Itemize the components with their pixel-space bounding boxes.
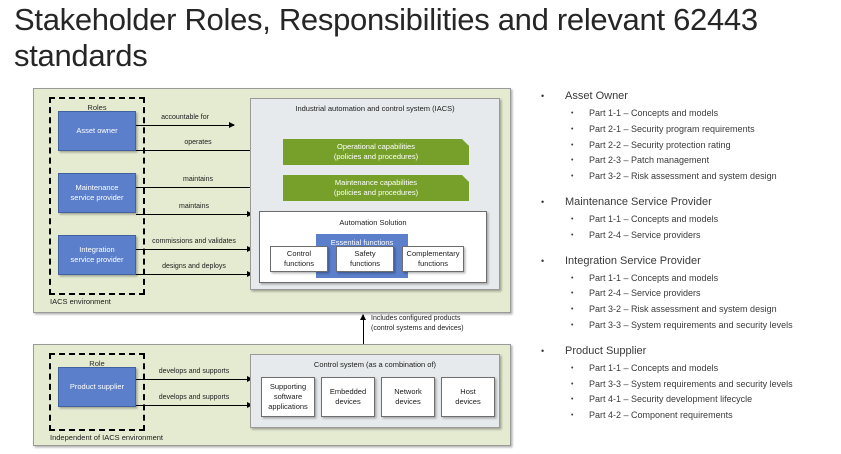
supporting-software-applications-line3: applications: [268, 402, 308, 412]
control-functions-line1: Control: [287, 249, 311, 259]
arrow-develops-and-supports-1: [136, 379, 252, 380]
independent-environment-label: Independent of IACS environment: [50, 433, 163, 442]
control-system-title: Control system (as a combination of): [251, 360, 499, 369]
arrow-develops-and-supports-2: [136, 405, 252, 406]
arrow-develops-and-supports-1-label: develops and supports: [134, 368, 254, 375]
arrow-accountable-for-label: accountable for: [136, 114, 234, 121]
network-devices-line1: Network: [394, 387, 422, 397]
independent-environment-panel: Role Product supplier Independent of IAC…: [33, 344, 511, 446]
stakeholder-standards-list: Asset OwnerPart 1-1 – Concepts and model…: [537, 86, 837, 431]
safety-functions-line2: functions: [350, 259, 380, 269]
complementary-functions-box[interactable]: Complementary functions: [402, 246, 464, 272]
iacs-environment-label: IACS environment: [50, 297, 111, 306]
control-system-panel: Control system (as a combination of) Sup…: [250, 354, 500, 428]
stakeholder-diagram: Roles Asset owner Maintenance service pr…: [33, 88, 511, 446]
connector-label: Includes configured products (control sy…: [371, 314, 464, 333]
safety-functions-line1: Safety: [354, 249, 375, 259]
arrow-designs-and-deploys-label: designs and deploys: [134, 263, 254, 270]
stakeholder-group: Asset OwnerPart 1-1 – Concepts and model…: [537, 86, 837, 185]
standard-item: Part 2-3 – Patch management: [537, 153, 837, 169]
role-integration-service-provider-label: Integration service provider: [71, 245, 124, 265]
role-product-supplier[interactable]: Product supplier: [58, 367, 136, 407]
standard-item: Part 3-3 – System requirements and secur…: [537, 377, 837, 393]
embedded-devices-line1: Embedded: [330, 387, 366, 397]
maintenance-capabilities-line2: (policies and procedures): [334, 188, 418, 198]
network-devices-line2: devices: [395, 397, 420, 407]
standard-item: Part 1-1 – Concepts and models: [537, 361, 837, 377]
standard-item: Part 4-2 – Component requirements: [537, 408, 837, 424]
role-asset-owner-label: Asset owner: [76, 126, 117, 136]
standard-item: Part 1-1 – Concepts and models: [537, 212, 837, 228]
arrow-operates-label: operates: [136, 139, 260, 146]
connector-label-line1: Includes configured products: [371, 314, 464, 324]
host-devices-box[interactable]: Host devices: [441, 377, 495, 417]
stakeholder-group: Product SupplierPart 1-1 – Concepts and …: [537, 341, 837, 424]
supporting-software-applications-line2: software: [274, 392, 302, 402]
standard-item: Part 3-2 – Risk assessment and system de…: [537, 169, 837, 185]
automation-solution-title: Automation Solution: [260, 218, 486, 228]
standard-item: Part 2-4 – Service providers: [537, 228, 837, 244]
standard-item: Part 3-2 – Risk assessment and system de…: [537, 302, 837, 318]
complementary-functions-line1: Complementary: [407, 249, 460, 259]
stakeholder-group: Maintenance Service ProviderPart 1-1 – C…: [537, 192, 837, 244]
embedded-devices-line2: devices: [335, 397, 360, 407]
role-product-supplier-label: Product supplier: [70, 382, 124, 392]
control-functions-box[interactable]: Control functions: [270, 246, 328, 272]
standard-item: Part 1-1 – Concepts and models: [537, 106, 837, 122]
stakeholder-name: Maintenance Service Provider: [537, 192, 837, 212]
maintenance-capabilities-line1: Maintenance capabilities: [335, 178, 417, 188]
iacs-environment-panel: Roles Asset owner Maintenance service pr…: [33, 88, 511, 313]
iacs-system-panel: Industrial automation and control system…: [250, 98, 500, 290]
connector-arrow-up: [363, 315, 364, 345]
arrow-commissions-and-validates: [136, 249, 252, 250]
role-integration-service-provider[interactable]: Integration service provider: [58, 235, 136, 275]
complementary-functions-line2: functions: [418, 259, 448, 269]
standard-item: Part 1-1 – Concepts and models: [537, 271, 837, 287]
standard-item: Part 2-1 – Security program requirements: [537, 122, 837, 138]
role-asset-owner[interactable]: Asset owner: [58, 111, 136, 151]
iacs-system-title: Industrial automation and control system…: [251, 104, 499, 113]
arrow-develops-and-supports-2-label: develops and supports: [134, 394, 254, 401]
maintenance-capabilities-box[interactable]: Maintenance capabilities (policies and p…: [283, 175, 469, 201]
stakeholder-name: Asset Owner: [537, 86, 837, 106]
stakeholder-group: Integration Service ProviderPart 1-1 – C…: [537, 251, 837, 334]
stakeholder-name: Product Supplier: [537, 341, 837, 361]
arrow-maintains-capabilities-label: maintains: [136, 176, 260, 183]
connector-label-line2: (control systems and devices): [371, 324, 464, 334]
arrow-maintains-automation: [136, 214, 252, 215]
supporting-software-applications-box[interactable]: Supporting software applications: [261, 377, 315, 417]
embedded-devices-box[interactable]: Embedded devices: [321, 377, 375, 417]
standard-item: Part 4-1 – Security development lifecycl…: [537, 392, 837, 408]
role-maintenance-service-provider-label: Maintenance service provider: [71, 183, 124, 203]
arrow-designs-and-deploys: [136, 274, 252, 275]
safety-functions-box[interactable]: Safety functions: [336, 246, 394, 272]
host-devices-line1: Host: [460, 387, 475, 397]
standard-item: Part 2-4 – Service providers: [537, 286, 837, 302]
standard-item: Part 2-2 – Security protection rating: [537, 138, 837, 154]
host-devices-line2: devices: [455, 397, 480, 407]
arrow-operates: [136, 150, 260, 151]
operational-capabilities-line2: (policies and procedures): [334, 152, 418, 162]
page-title: Stakeholder Roles, Responsibilities and …: [14, 2, 774, 74]
stakeholder-name: Integration Service Provider: [537, 251, 837, 271]
operational-capabilities-box[interactable]: Operational capabilities (policies and p…: [283, 139, 469, 165]
arrow-accountable-for: [136, 125, 234, 126]
standard-item: Part 3-3 – System requirements and secur…: [537, 318, 837, 334]
operational-capabilities-line1: Operational capabilities: [337, 142, 415, 152]
arrow-maintains-capabilities: [136, 187, 260, 188]
control-functions-line2: functions: [284, 259, 314, 269]
automation-solution-box: Automation Solution Essential functions …: [259, 211, 487, 283]
network-devices-box[interactable]: Network devices: [381, 377, 435, 417]
arrow-commissions-and-validates-label: commissions and validates: [134, 238, 254, 245]
arrow-maintains-automation-label: maintains: [136, 203, 252, 210]
supporting-software-applications-line1: Supporting: [270, 382, 306, 392]
role-maintenance-service-provider[interactable]: Maintenance service provider: [58, 173, 136, 213]
